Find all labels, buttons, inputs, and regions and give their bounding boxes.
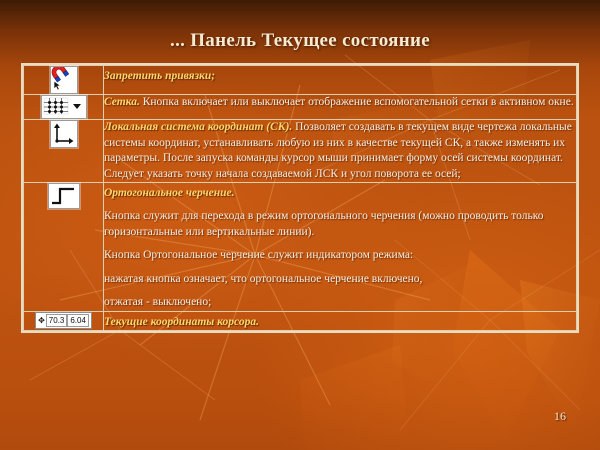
row-paragraph-ortho-2: Кнопка Ортогональное черчение служит инд… xyxy=(104,248,576,264)
text-cell-snap: Запретить привязки; xyxy=(104,66,577,95)
row-paragraph-ortho-4: отжатая - выключено; xyxy=(104,295,576,311)
row-heading-ortho: Ортогональное черчение. xyxy=(104,187,235,199)
table-row: ✥70.36.04 Текущие координаты корсора. xyxy=(24,311,577,330)
row-heading-snap: Запретить привязки; xyxy=(104,70,215,82)
row-body-grid: Кнопка включает или выключает отображени… xyxy=(143,96,574,108)
table-row: Запретить привязки; xyxy=(24,66,577,95)
icon-cell-lcs xyxy=(24,120,104,183)
crosshair-icon: ✥ xyxy=(38,315,46,326)
row-paragraph-ortho-3: нажатая кнопка означает, что ортогональн… xyxy=(104,272,576,288)
page-title: ... Панель Текущее состояние xyxy=(0,30,600,52)
local-coordinate-axes-icon[interactable] xyxy=(50,120,78,148)
table-row: Сетка. Кнопка включает или выключает ото… xyxy=(24,95,577,120)
text-cell-coords: Текущие координаты корсора. xyxy=(104,311,577,330)
table-row: Локальная система координат (СК). Позвол… xyxy=(24,120,577,183)
icon-cell-snap xyxy=(24,66,104,95)
coordinate-x-value[interactable]: 70.3 xyxy=(46,314,68,327)
page-number: 16 xyxy=(554,409,566,424)
row-heading-lcs: Локальная система координат (СК). xyxy=(104,121,292,133)
row-paragraph-grid: Сетка. Кнопка включает или выключает ото… xyxy=(104,95,576,111)
text-cell-ortho: Ортогональное черчение. Кнопка служит дл… xyxy=(104,183,577,312)
text-cell-grid: Сетка. Кнопка включает или выключает ото… xyxy=(104,95,577,120)
icon-cell-grid xyxy=(24,95,104,120)
table-row: Ортогональное черчение. Кнопка служит дл… xyxy=(24,183,577,312)
row-heading-grid: Сетка. xyxy=(104,96,140,108)
row-paragraph-ortho-1: Кнопка служит для перехода в режим ортог… xyxy=(104,209,576,240)
chevron-down-icon xyxy=(73,104,81,109)
orthogonal-step-icon[interactable] xyxy=(48,183,80,209)
coordinate-y-value[interactable]: 6.04 xyxy=(67,314,89,327)
slide-canvas: ... Панель Текущее состояние xyxy=(0,0,600,450)
cursor-coordinates-widget[interactable]: ✥70.36.04 xyxy=(35,312,92,329)
magnet-snap-icon[interactable] xyxy=(50,66,78,94)
icon-cell-coords: ✥70.36.04 xyxy=(24,311,104,330)
row-heading-wrap-ortho: Ортогональное черчение. xyxy=(104,183,576,201)
text-cell-lcs: Локальная система координат (СК). Позвол… xyxy=(104,120,577,183)
row-heading-coords: Текущие координаты корсора. xyxy=(104,316,259,328)
grid-dropdown-icon[interactable] xyxy=(41,95,87,119)
icon-cell-ortho xyxy=(24,183,104,312)
status-panel-table: Запретить привязки; xyxy=(21,63,579,333)
row-paragraph-lcs: Локальная система координат (СК). Позвол… xyxy=(104,120,576,182)
